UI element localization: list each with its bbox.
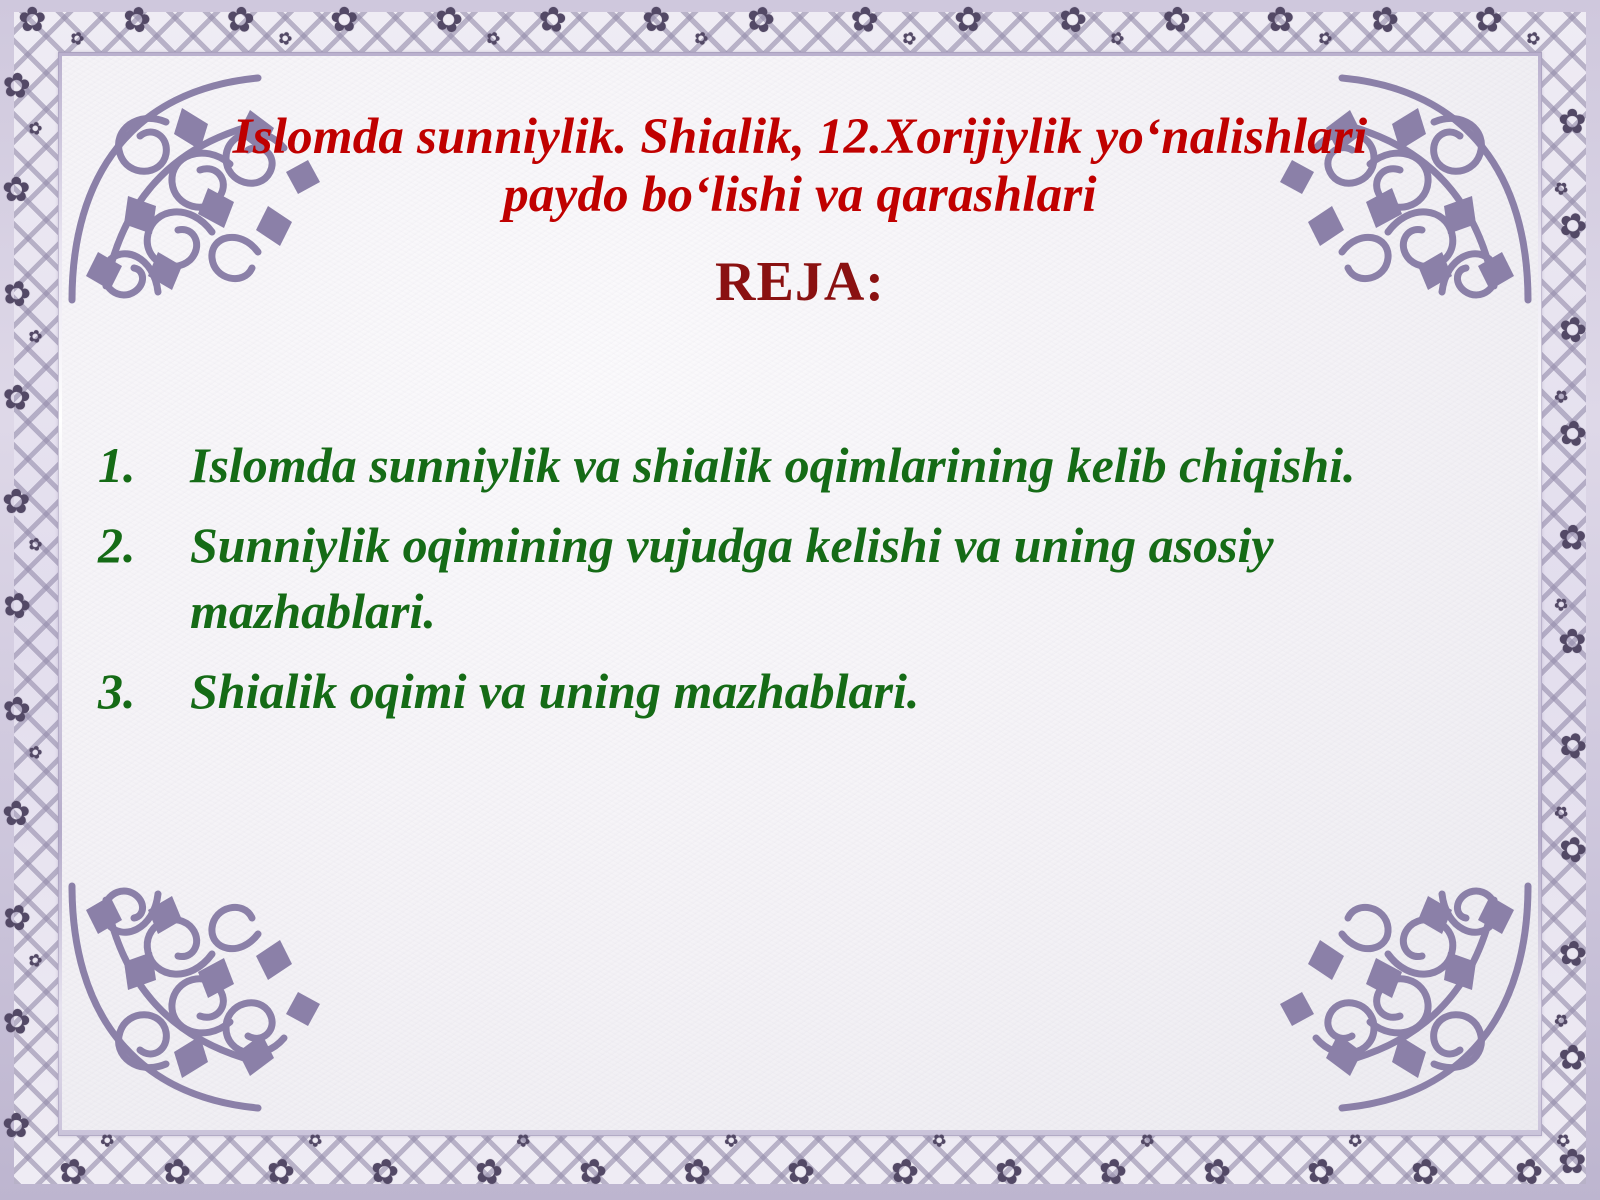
list-item-number: 3. [98,658,190,724]
flower-icon: ✿ [1555,936,1589,974]
flower-icon: ✿ [224,2,256,39]
flower-icon: ✿ [848,2,880,39]
flower-icon: ✿ [0,1004,33,1042]
flower-icon: ✿ [1472,2,1504,39]
flower-icon: ✿ [1558,106,1587,140]
flower-icon: ✿ [1557,521,1588,557]
flower-icon: ✿ [1160,2,1192,39]
list-item-number: 2. [98,512,190,578]
flower-icon: ✿ [954,4,983,38]
flower-icon: ✿ [330,4,359,38]
plan-list: 1. Islomda sunniylik va shialik oqimlari… [80,314,1520,724]
list-item-text: Shialik oqimi va uning mazhablari. [190,658,1486,724]
flower-icon: ✿ [0,68,33,106]
flower-icon: ✿ [1557,1041,1588,1077]
flower-icon: ✿ [1558,626,1587,660]
flower-icon: ✿ [2,798,31,832]
flower-icon: ✿ [642,4,671,38]
flower-icon: ✿ [18,4,47,38]
flower-icon: ✿ [2,486,31,520]
flower-icon: ✿ [1555,416,1589,454]
flower-icon: ✿ [536,2,568,39]
list-item: 3. Shialik oqimi va uning mazhablari. [98,658,1486,724]
list-item-text: Sunniylik oqimining vujudga kelishi va u… [190,512,1486,644]
flower-icon: ✿ [2,1110,31,1144]
flower-icon: ✿ [1266,4,1295,38]
list-item: 2. Sunniylik oqimining vujudga kelishi v… [98,512,1486,644]
list-item-text: Islomda sunniylik va shialik oqimlarinin… [190,432,1486,498]
slide-content: Islomda sunniylik. Shialik, 12.Xorijiyli… [80,70,1520,1114]
page-title: Islomda sunniylik. Shialik, 12.Xorijiyli… [80,70,1520,224]
list-item: 1. Islomda sunniylik va shialik oqimlari… [98,432,1486,498]
flower-icon: ✿ [0,692,33,730]
flower-icon: ✿ [2,174,31,208]
section-heading-reja: REJA: [80,224,1520,314]
list-item-number: 1. [98,432,190,498]
flower-icon: ✿ [0,380,33,418]
slide-canvas: ✿✿✿✿✿✿✿✿✿✿✿✿✿✿✿✿✿✿✿✿✿✿✿✿✿✿✿✿✿✿✿✿✿✿✿✿✿✿✿✿… [0,0,1600,1200]
